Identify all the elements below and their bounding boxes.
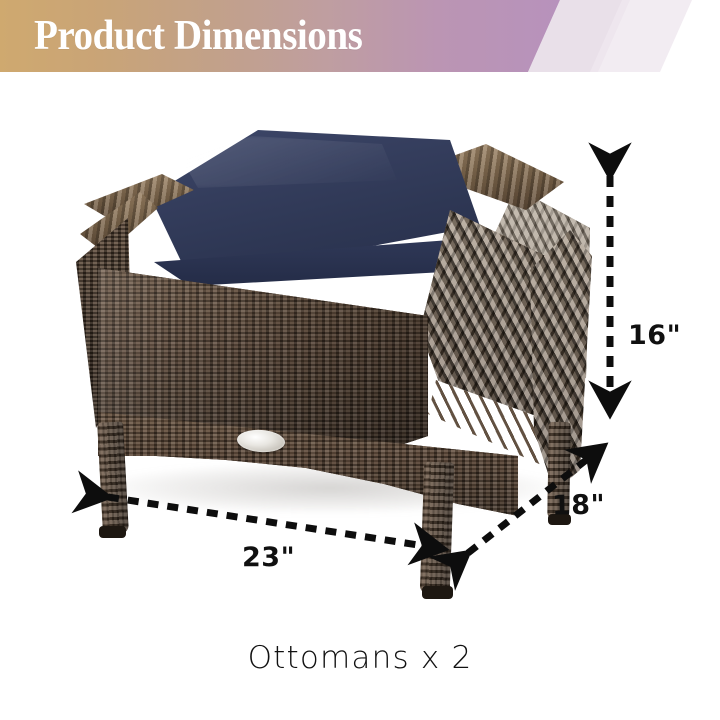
header-banner: Product Dimensions	[0, 0, 720, 72]
ottoman-illustration	[62, 122, 582, 572]
ottoman-leg-front-right	[420, 462, 455, 595]
product-image-area	[0, 72, 720, 632]
height-dimension-label: 16"	[628, 320, 681, 351]
width-dimension-label: 23"	[242, 542, 295, 573]
depth-dimension-label: 18"	[552, 490, 606, 522]
ottoman-foot-front-right	[422, 586, 453, 599]
product-dimensions-infographic: Product Dimensions	[0, 0, 720, 720]
product-caption: Ottomans x 2	[0, 640, 720, 676]
cushion-highlight	[182, 136, 402, 188]
page-title: Product Dimensions	[34, 10, 362, 62]
ottoman-foot-front-left	[99, 526, 126, 538]
